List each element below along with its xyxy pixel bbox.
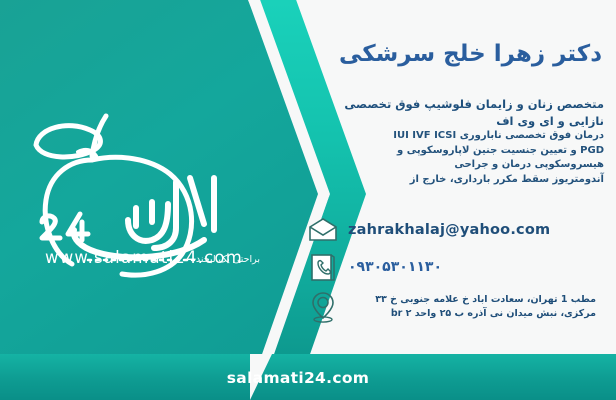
location-pin-icon [306,290,340,324]
page-title: دکتر زهرا خلج سرشکی [312,40,602,69]
envelope-icon [306,213,340,247]
logo-website-url[interactable]: www.salamati24.com [26,248,262,267]
phone-book-icon [306,250,340,284]
detail-line-4: آندومتریوز سقط مکرر بارداری، خارج از [312,173,604,188]
address-text: مطب 1 تهران، سعادت اباد خ علامه جنوبی خ … [348,293,596,322]
detail-line-2: PGD و تعیین جنسیت جنین لاپاروسکوپی و [312,144,604,159]
footer-website[interactable]: salamati24.com [0,369,616,387]
specialty-line-2: نازایی و ای وی اف [312,113,604,130]
address-row[interactable]: مطب 1 تهران، سعادت اباد خ علامه جنوبی خ … [306,290,606,324]
email-text[interactable]: zahrakhalaj@yahoo.com [348,222,550,238]
detail-line-3: هیسروسکوپی درمان و جراحی [312,158,604,173]
phone-text[interactable]: ۰۹۳۰۵۳۰۱۱۳۰ [348,259,442,275]
email-row[interactable]: zahrakhalaj@yahoo.com [306,213,606,247]
phone-row[interactable]: ۰۹۳۰۵۳۰۱۱۳۰ [306,250,606,284]
specialty-line-1: متخصص زنان و زایمان فلوشیپ فوق تخصصی [312,96,604,113]
business-card: براحتی یک لبخند www.salamati24.com دکتر … [0,0,616,400]
card-content: دکتر زهرا خلج سرشکی متخصص زنان و زایمان … [300,0,616,400]
detail-line-1: درمان فوق تخصصی ناباروری IUI IVF ICSI [312,129,604,144]
specialty-block: متخصص زنان و زایمان فلوشیپ فوق تخصصی ناز… [312,96,604,187]
